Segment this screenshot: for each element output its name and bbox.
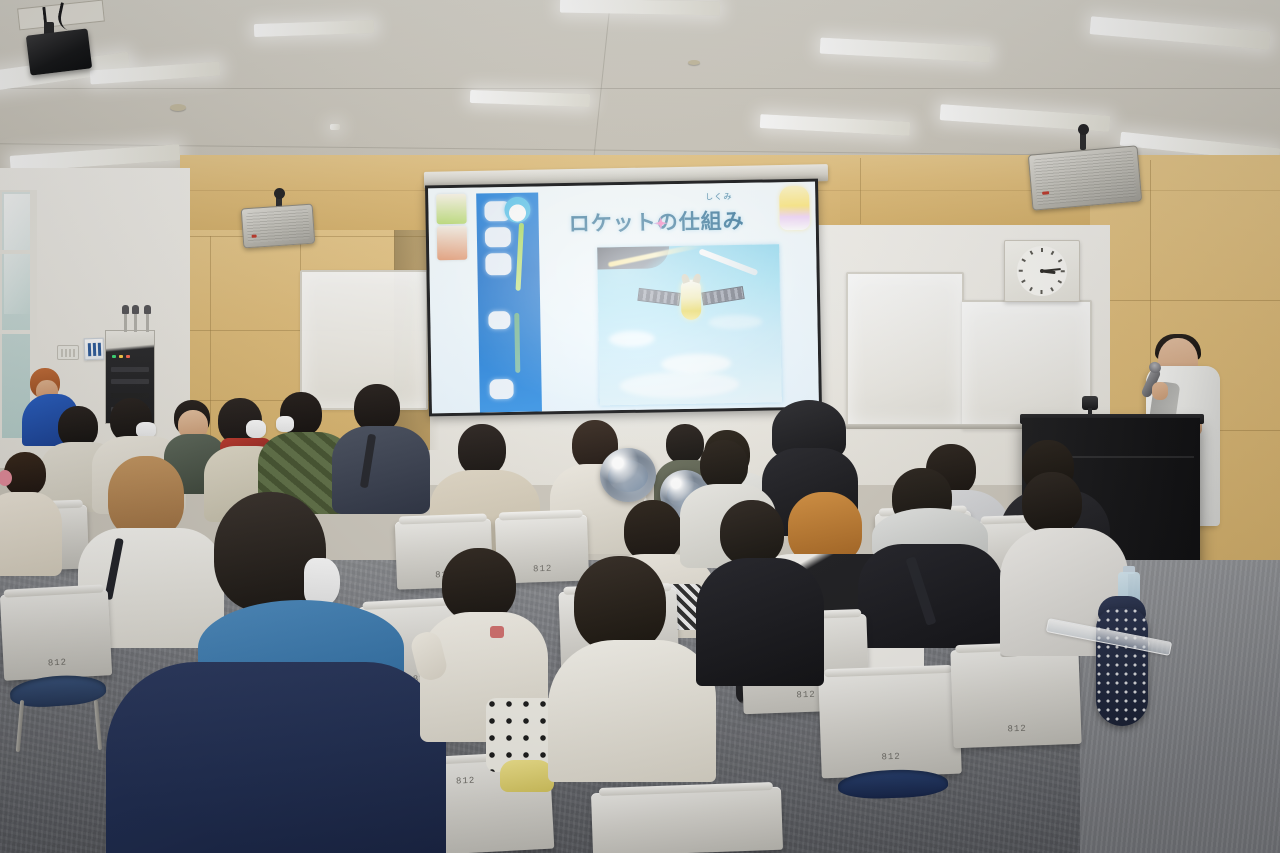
strip-highlight [514, 313, 520, 373]
whiteboard [962, 300, 1092, 430]
microphone-stand [146, 312, 149, 332]
solar-panel-left [637, 288, 680, 306]
whiteboard [846, 272, 964, 427]
polka-dot-bag [1096, 608, 1148, 726]
wall-seam [860, 158, 861, 224]
speaker-badge [252, 235, 257, 238]
strip-box [488, 311, 510, 329]
speaker-badge [1042, 191, 1049, 195]
satellite-boom [698, 248, 758, 276]
microphone-stand [134, 312, 137, 332]
strip-box [485, 253, 511, 275]
chair-number: 812 [1007, 724, 1027, 735]
satellite-antenna [693, 273, 702, 284]
wall-clock [1004, 240, 1080, 302]
window-mullion [0, 250, 36, 254]
person-torso [858, 544, 1004, 648]
person-torso [332, 426, 430, 514]
microphone-icon [132, 305, 139, 314]
clock-face [1017, 246, 1067, 296]
held-object [490, 626, 504, 638]
rack-led [119, 355, 123, 358]
cartoon-thumbnail-icon [437, 226, 468, 261]
chair[interactable]: 812 [950, 646, 1081, 748]
person-torso [0, 492, 62, 576]
face-mask [276, 416, 294, 432]
microphone-icon [122, 305, 129, 314]
speaker-pivot [274, 188, 285, 199]
chair-number: 812 [796, 690, 816, 701]
cloud [708, 315, 762, 330]
slide-title: ロケットの仕組み [568, 204, 808, 238]
strip-box [485, 227, 511, 247]
wall-speaker-left [241, 204, 316, 249]
person-torso [548, 640, 716, 782]
person-torso [696, 558, 824, 686]
projection-screen: しくみ ロケットの仕組み [425, 179, 822, 417]
chair[interactable] [591, 787, 783, 853]
chair[interactable]: 812 [818, 670, 962, 779]
person-hair [1022, 472, 1082, 534]
person-hair [354, 384, 400, 432]
solar-panel-right [701, 286, 745, 305]
speaker-pivot [1078, 124, 1089, 135]
cloud [661, 353, 731, 374]
chair[interactable]: 812 [0, 589, 112, 681]
chair-top-edge [498, 510, 583, 521]
face-mask [246, 420, 266, 438]
microphone-icon [144, 305, 151, 314]
cloud [609, 330, 655, 347]
slide-photo [597, 244, 782, 405]
shoe [500, 760, 554, 792]
presenter-hand [1152, 382, 1168, 400]
speaker-grill [1033, 151, 1137, 206]
mylar-balloon-left [600, 448, 656, 502]
person-hair [700, 440, 748, 490]
chair-top-edge [398, 513, 487, 524]
slide-left-strip [476, 192, 542, 412]
ceiling-light-panel [330, 124, 340, 130]
ceiling-projector [26, 28, 92, 75]
strip-highlight [515, 223, 524, 291]
rack-led [112, 355, 116, 358]
wall-speaker-right [1028, 145, 1142, 210]
person-hair [666, 424, 704, 464]
clock-center-pin [1040, 269, 1044, 273]
smoke-detector-icon [170, 104, 186, 111]
screen-surface: しくみ ロケットの仕組み [428, 182, 819, 414]
chair-number: 812 [881, 752, 901, 763]
lecture-room-photo: しくみ ロケットの仕組み [0, 0, 1280, 853]
strip-box [489, 379, 513, 399]
ceiling-seam [0, 88, 1280, 89]
chair-number: 812 [456, 776, 476, 787]
person-hair [574, 556, 666, 652]
balloon-reflection [608, 460, 648, 492]
person-hair [624, 500, 682, 562]
person-torso [106, 662, 446, 853]
speaker-grill [246, 209, 310, 243]
wall-seam [210, 236, 211, 451]
cloud [619, 371, 739, 399]
person-hair [442, 548, 516, 622]
rack-led [126, 355, 130, 358]
window-mullion [0, 330, 36, 334]
face-mask [304, 558, 340, 606]
notice-card [84, 338, 105, 361]
wall-seam [1090, 300, 1280, 301]
slide: しくみ ロケットの仕組み [428, 182, 819, 414]
cartoon-character-icon [779, 186, 810, 231]
microphone-stand [124, 312, 127, 332]
person-hair [458, 424, 506, 476]
person-hair [108, 456, 184, 538]
smoke-detector-icon [688, 60, 700, 65]
slide-furigana: しくみ [705, 191, 733, 202]
chair-number: 812 [533, 564, 553, 575]
rack-slot [111, 367, 149, 372]
light-switch-plate[interactable] [57, 345, 79, 360]
chair-number: 812 [48, 657, 68, 668]
person-hair [720, 500, 784, 566]
cartoon-thumbnail-icon [436, 194, 467, 225]
satellite-body [681, 280, 702, 320]
rack-slot [111, 379, 149, 384]
